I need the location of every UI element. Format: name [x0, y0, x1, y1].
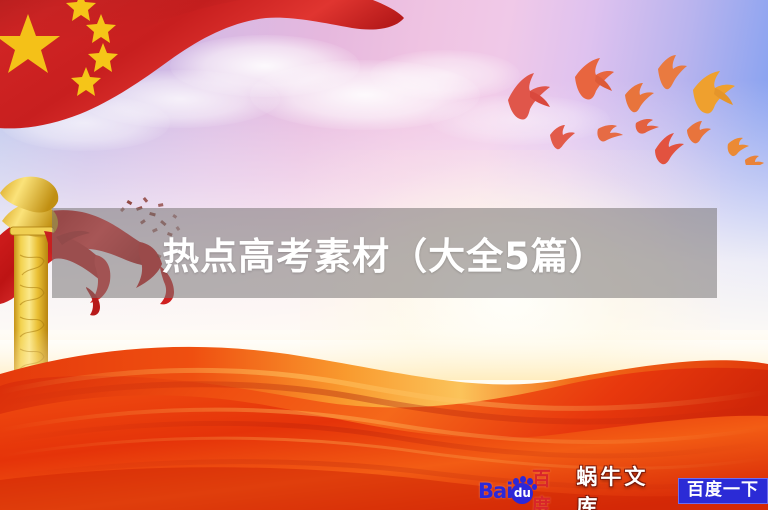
page-title: 热点高考素材（大全5篇） [162, 226, 607, 280]
flying-birds-flock [490, 45, 768, 165]
baidu-search-button[interactable]: 百度一下 [678, 478, 768, 504]
bird-icon [693, 71, 735, 114]
title-banner: 热点高考素材（大全5篇） [52, 208, 717, 298]
baidu-logo-latin: Bai [478, 479, 512, 503]
bird-icon [655, 133, 684, 164]
baidu-logo-du: du [514, 487, 531, 500]
bird-icon [745, 156, 764, 165]
chinese-national-flag [0, 0, 420, 160]
bird-icon [508, 73, 550, 120]
bird-icon [575, 58, 614, 100]
branding-bar: Bai du 百度 蜗牛文库 百度一下 [478, 476, 768, 506]
bird-icon [550, 125, 575, 149]
bird-icon [728, 138, 749, 156]
bird-icon [658, 55, 687, 89]
baidu-logo[interactable]: Bai du 百度 [478, 478, 564, 504]
site-name: 蜗牛文库 [576, 461, 666, 510]
banner-image: 热点高考素材（大全5篇） Bai du 百度 蜗牛文库 百度一下 [0, 0, 768, 510]
bird-icon [687, 121, 711, 143]
bird-icon [625, 83, 654, 112]
bird-icon [597, 125, 623, 142]
paw-print-icon: du [509, 478, 532, 504]
bird-icon [636, 119, 659, 134]
